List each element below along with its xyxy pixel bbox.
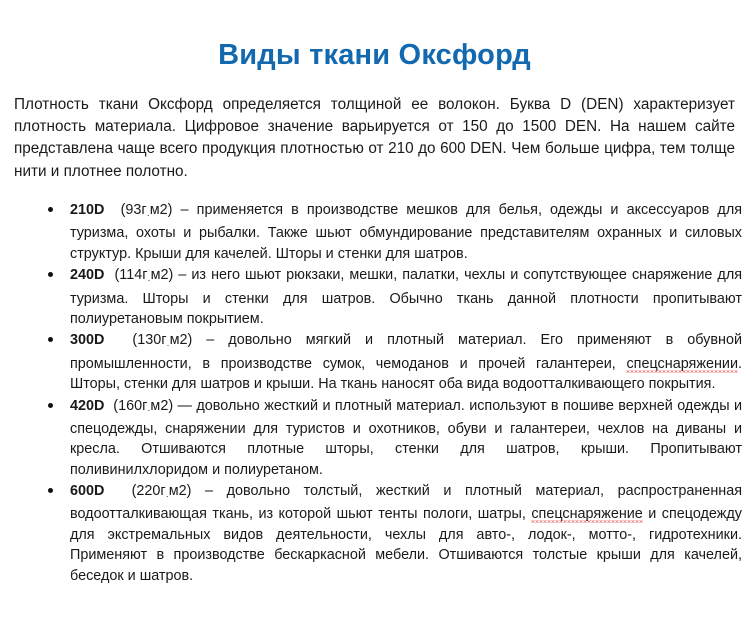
weight-separator: . (147, 403, 150, 413)
weight-per-square-meter: (114г.м2) (115, 267, 174, 283)
bullet-dot-icon (48, 403, 53, 408)
weight-separator: . (147, 208, 150, 218)
bullet-dot-icon (48, 272, 53, 277)
list-item: 420D (160г.м2) — довольно жесткий и плот… (0, 396, 742, 481)
weight-per-square-meter: (130г.м2) (132, 332, 192, 348)
bullet-dot-icon (48, 488, 53, 493)
weight-separator: . (166, 489, 169, 499)
weight-per-square-meter: (160г.м2) (113, 398, 173, 414)
fabric-density-list: 210D (93г.м2) – применяется в производст… (0, 183, 749, 586)
weight-per-square-meter: (220г.м2) (132, 483, 192, 499)
misspelled-word[interactable]: спецснаряжение (531, 506, 642, 523)
list-item: 210D (93г.м2) – применяется в производст… (0, 200, 742, 264)
density-code: 420D (70, 398, 104, 414)
list-item: 600D (220г.м2) – довольно толстый, жестк… (0, 481, 742, 586)
weight-separator: . (166, 338, 169, 348)
density-code: 600D (70, 483, 104, 499)
list-item: 240D (114г.м2) – из него шьют рюкзаки, м… (0, 265, 742, 329)
bullet-dot-icon (48, 337, 53, 342)
misspelled-word[interactable]: спецснаряжении (626, 356, 738, 373)
intro-paragraph: Плотность ткани Оксфорд определяется тол… (0, 73, 749, 183)
page-title: Виды ткани Оксфорд (0, 0, 749, 73)
density-code: 240D (70, 267, 104, 283)
bullet-dot-icon (48, 207, 53, 212)
document-page: Виды ткани Оксфорд Плотность ткани Оксфо… (0, 0, 749, 637)
weight-separator: . (148, 273, 151, 283)
density-code: 210D (70, 202, 104, 218)
density-code: 300D (70, 332, 104, 348)
weight-per-square-meter: (93г.м2) (121, 202, 173, 218)
list-item: 300D (130г.м2) – довольно мягкий и плотн… (0, 330, 742, 394)
